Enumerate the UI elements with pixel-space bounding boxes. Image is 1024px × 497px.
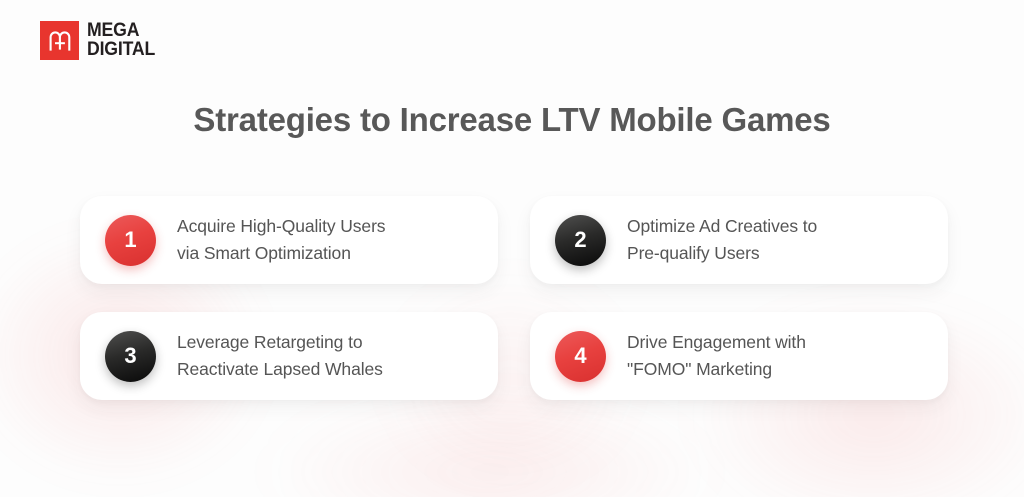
strategy-text-4-line-1: Drive Engagement with — [627, 332, 806, 352]
strategy-card-grid: 1 Acquire High-Quality Users via Smart O… — [80, 196, 948, 400]
strategy-card-1: 1 Acquire High-Quality Users via Smart O… — [80, 196, 498, 284]
strategy-number-badge-1: 1 — [105, 215, 156, 266]
strategy-text-2-line-1: Optimize Ad Creatives to — [627, 216, 817, 236]
strategy-text-3-line-2: Reactivate Lapsed Whales — [177, 356, 383, 383]
strategy-number-badge-4: 4 — [555, 331, 606, 382]
strategy-text-1-line-1: Acquire High-Quality Users — [177, 216, 385, 236]
page-title: Strategies to Increase LTV Mobile Games — [0, 101, 1024, 139]
strategy-text-3: Leverage Retargeting to Reactivate Lapse… — [177, 329, 383, 382]
brand-wordmark: MEGA DIGITAL — [87, 22, 160, 58]
strategy-card-2: 2 Optimize Ad Creatives to Pre-qualify U… — [530, 196, 948, 284]
infographic-canvas: MEGA DIGITAL Strategies to Increase LTV … — [0, 0, 1024, 497]
strategy-number-badge-3: 3 — [105, 331, 156, 382]
strategy-text-4-line-2: "FOMO" Marketing — [627, 356, 806, 383]
strategy-card-4: 4 Drive Engagement with "FOMO" Marketing — [530, 312, 948, 400]
strategy-number-badge-2: 2 — [555, 215, 606, 266]
strategy-text-1-line-2: via Smart Optimization — [177, 240, 385, 267]
mega-m-monogram-icon — [40, 21, 79, 60]
strategy-text-2-line-2: Pre-qualify Users — [627, 240, 817, 267]
strategy-card-3: 3 Leverage Retargeting to Reactivate Lap… — [80, 312, 498, 400]
strategy-text-4: Drive Engagement with "FOMO" Marketing — [627, 329, 806, 382]
strategy-text-3-line-1: Leverage Retargeting to — [177, 332, 362, 352]
strategy-text-1: Acquire High-Quality Users via Smart Opt… — [177, 213, 385, 266]
brand-line-2: DIGITAL — [87, 41, 155, 59]
strategy-text-2: Optimize Ad Creatives to Pre-qualify Use… — [627, 213, 817, 266]
brand-logo: MEGA DIGITAL — [40, 21, 160, 60]
